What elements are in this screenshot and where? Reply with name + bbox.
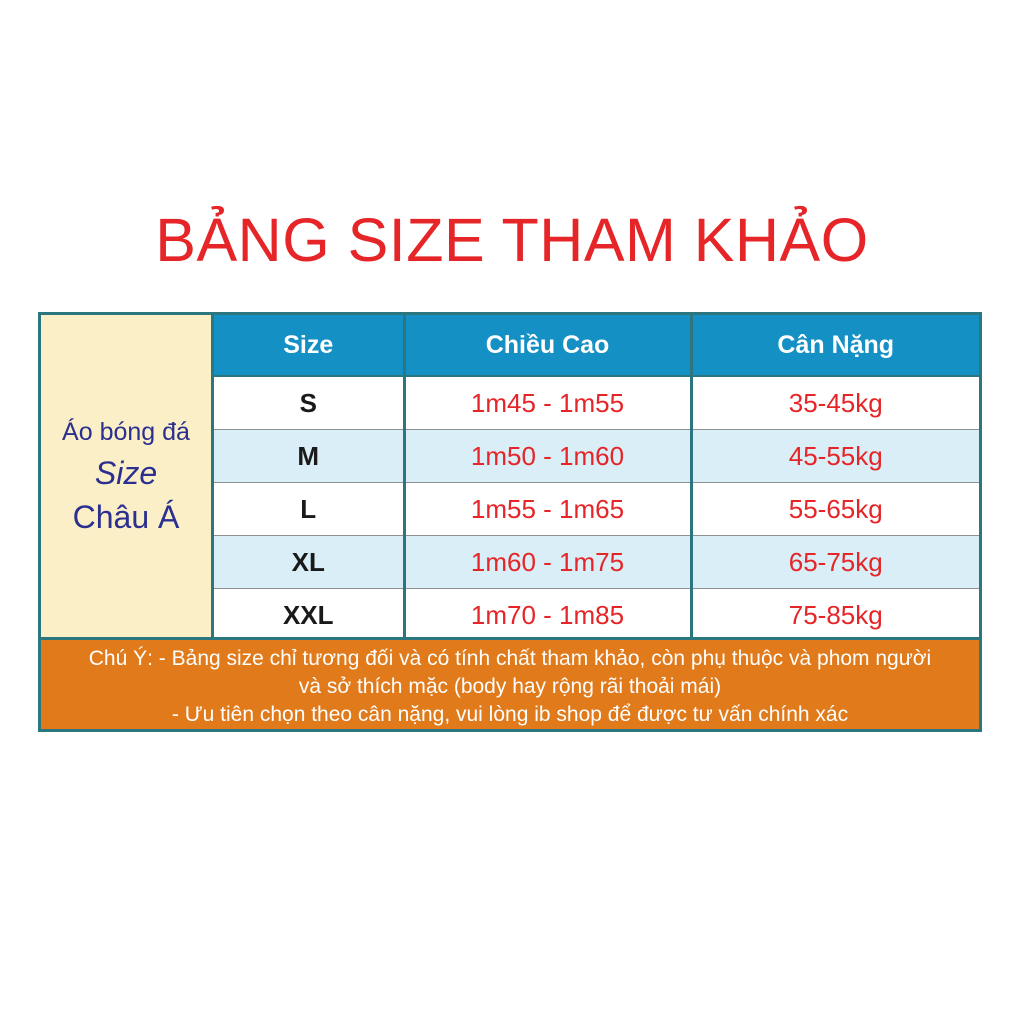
brand-label-cell: Áo bóng đá Size Châu Á xyxy=(41,315,214,637)
table-row: XXL 1m70 - 1m85 75-85kg xyxy=(214,589,979,642)
page-title: BẢNG SIZE THAM KHẢO xyxy=(0,205,1024,275)
cell-height: 1m50 - 1m60 xyxy=(404,430,691,483)
size-chart-table-frame: Áo bóng đá Size Châu Á Size Chiều Cao xyxy=(38,312,982,732)
table-row: S 1m45 - 1m55 35-45kg xyxy=(214,376,979,430)
cell-weight: 65-75kg xyxy=(691,536,979,589)
table-row: L 1m55 - 1m65 55-65kg xyxy=(214,483,979,536)
note-band: Chú Ý: - Bảng size chỉ tương đối và có t… xyxy=(41,637,979,729)
cell-size: L xyxy=(214,483,404,536)
note-line-2: và sở thích mặc (body hay rộng rãi thoải… xyxy=(41,673,979,701)
cell-weight: 45-55kg xyxy=(691,430,979,483)
cell-size: XL xyxy=(214,536,404,589)
cell-size: M xyxy=(214,430,404,483)
column-header-weight: Cân Nặng xyxy=(691,315,979,376)
brand-product-label: Áo bóng đá xyxy=(62,414,190,451)
column-header-size: Size xyxy=(214,315,404,376)
cell-height: 1m45 - 1m55 xyxy=(404,376,691,430)
cell-height: 1m60 - 1m75 xyxy=(404,536,691,589)
cell-size: S xyxy=(214,376,404,430)
brand-region-label: Châu Á xyxy=(73,495,180,539)
column-header-height: Chiều Cao xyxy=(404,315,691,376)
table-row: M 1m50 - 1m60 45-55kg xyxy=(214,430,979,483)
cell-size: XXL xyxy=(214,589,404,642)
note-line-1: Chú Ý: - Bảng size chỉ tương đối và có t… xyxy=(41,645,979,673)
size-table: Size Chiều Cao Cân Nặng S 1m45 - 1m55 35… xyxy=(214,315,979,641)
cell-weight: 55-65kg xyxy=(691,483,979,536)
cell-height: 1m70 - 1m85 xyxy=(404,589,691,642)
table-row: XL 1m60 - 1m75 65-75kg xyxy=(214,536,979,589)
cell-height: 1m55 - 1m65 xyxy=(404,483,691,536)
cell-weight: 35-45kg xyxy=(691,376,979,430)
note-line-3: - Ưu tiên chọn theo cân nặng, vui lòng i… xyxy=(41,701,979,729)
brand-size-label: Size xyxy=(95,451,157,495)
size-chart-page: BẢNG SIZE THAM KHẢO Áo bóng đá Size Châu… xyxy=(0,0,1024,1024)
cell-weight: 75-85kg xyxy=(691,589,979,642)
table-header-row: Size Chiều Cao Cân Nặng xyxy=(214,315,979,376)
size-table-area: Size Chiều Cao Cân Nặng S 1m45 - 1m55 35… xyxy=(214,315,979,637)
